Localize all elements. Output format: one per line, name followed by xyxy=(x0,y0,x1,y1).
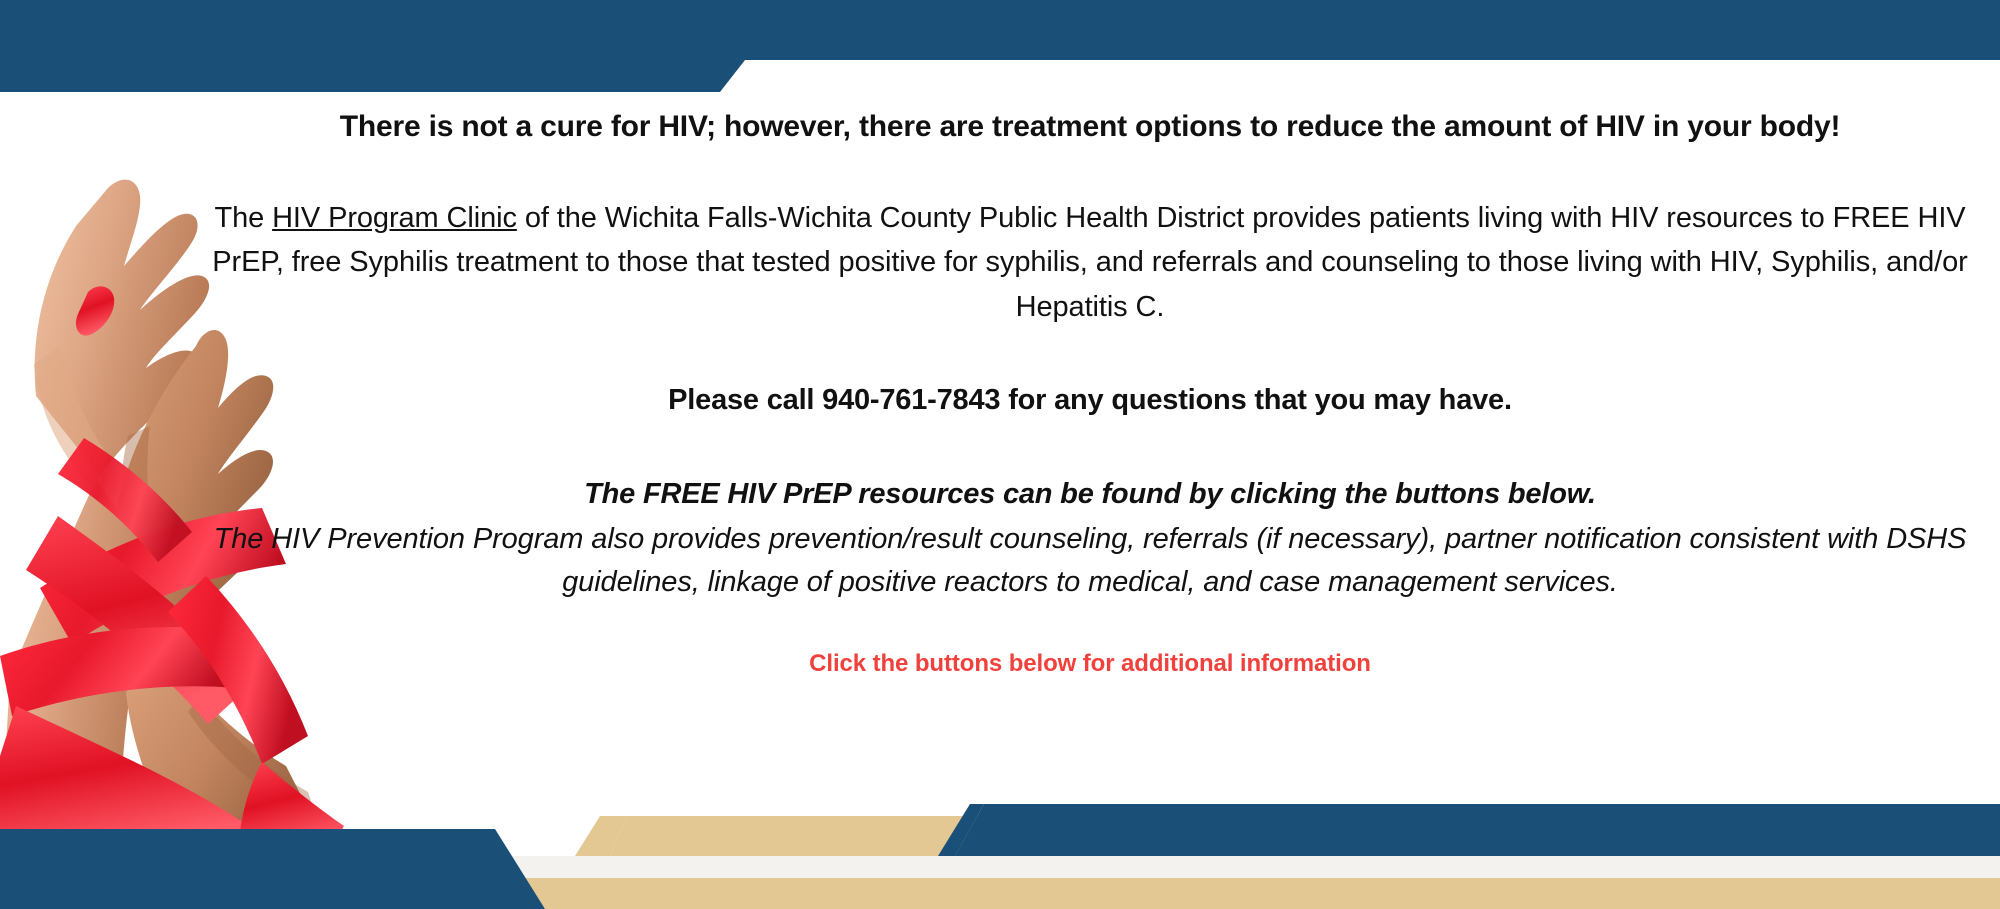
prep-heading: The FREE HIV PrEP resources can be found… xyxy=(210,476,1970,514)
top-blue-banner xyxy=(0,0,2000,92)
clinic-paragraph: The HIV Program Clinic of the Wichita Fa… xyxy=(210,196,1970,331)
hiv-program-clinic-link[interactable]: HIV Program Clinic xyxy=(272,202,517,234)
blue-wedge-right xyxy=(955,804,2000,856)
page-root: There is not a cure for HIV; however, th… xyxy=(0,0,2000,909)
clinic-paragraph-lead: The xyxy=(214,202,272,234)
page-headline: There is not a cure for HIV; however, th… xyxy=(210,108,1970,146)
phone-callout: Please call 940-761-7843 for any questio… xyxy=(210,382,1970,420)
prep-body: The HIV Prevention Program also provides… xyxy=(210,518,1970,604)
click-buttons-notice: Click the buttons below for additional i… xyxy=(210,650,1970,679)
content-column: There is not a cure for HIV; however, th… xyxy=(210,108,1970,678)
bottom-decorative-bands xyxy=(0,764,2000,909)
blue-block-left xyxy=(0,829,545,909)
